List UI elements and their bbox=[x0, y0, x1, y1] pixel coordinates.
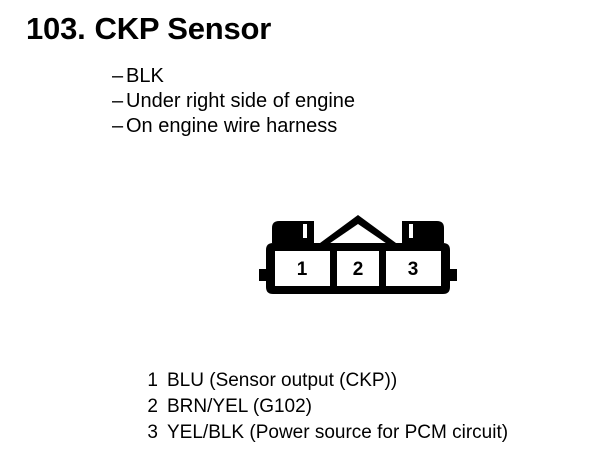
legend-pin-number: 3 bbox=[132, 420, 158, 446]
list-item: –BLK bbox=[112, 64, 355, 89]
list-item-label: Under right side of engine bbox=[126, 90, 355, 112]
cavity-label-1: 1 bbox=[297, 259, 308, 280]
bullet-dash-icon: – bbox=[112, 114, 126, 139]
list-item-label: BLK bbox=[126, 65, 164, 87]
left-locking-tab bbox=[259, 269, 266, 281]
bullet-dash-icon: – bbox=[112, 89, 126, 114]
pin-legend: 1BLU (Sensor output (CKP)) 2BRN/YEL (G10… bbox=[132, 368, 592, 446]
specification-list: –BLK –Under right side of engine –On eng… bbox=[112, 64, 355, 139]
legend-pin-description: YEL/BLK (Power source for PCM circuit) bbox=[167, 422, 508, 443]
cavity-divider bbox=[379, 251, 386, 286]
cavity-label-3: 3 bbox=[408, 259, 419, 280]
legend-pin-description: BRN/YEL (G102) bbox=[167, 396, 312, 417]
legend-row: 2BRN/YEL (G102) bbox=[132, 394, 592, 420]
right-locking-tab bbox=[450, 269, 457, 281]
legend-pin-description: BLU (Sensor output (CKP)) bbox=[167, 370, 397, 391]
left-tab-slot bbox=[303, 224, 307, 238]
page-title-number: 103. bbox=[26, 11, 86, 46]
bullet-dash-icon: – bbox=[112, 64, 126, 89]
connector-diagram: 1 2 3 bbox=[252, 203, 462, 313]
list-item: –Under right side of engine bbox=[112, 89, 355, 114]
legend-row: 3YEL/BLK (Power source for PCM circuit) bbox=[132, 420, 592, 446]
cavity-label-2: 2 bbox=[353, 259, 364, 280]
list-item-label: On engine wire harness bbox=[126, 115, 337, 137]
page-title: 103.CKP Sensor bbox=[26, 10, 271, 48]
right-tab-slot bbox=[409, 224, 413, 238]
page-title-text: CKP Sensor bbox=[95, 11, 272, 46]
right-top-tab bbox=[402, 221, 444, 243]
legend-pin-number: 2 bbox=[132, 394, 158, 420]
cavity-divider bbox=[330, 251, 337, 286]
left-top-tab bbox=[272, 221, 314, 243]
legend-pin-number: 1 bbox=[132, 368, 158, 394]
list-item: –On engine wire harness bbox=[112, 114, 355, 139]
connector-outline-svg: 1 2 3 bbox=[252, 203, 462, 313]
legend-row: 1BLU (Sensor output (CKP)) bbox=[132, 368, 592, 394]
